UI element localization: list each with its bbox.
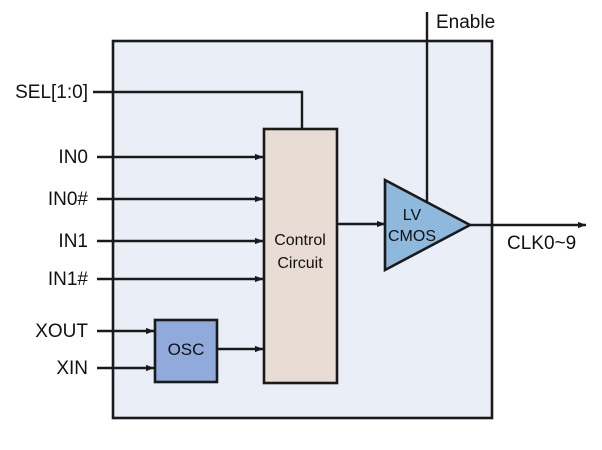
input-label-sel: SEL[1:0] [15,82,88,103]
control-circuit-label-line1: Control [274,232,326,249]
osc-block-label: OSC [168,340,205,359]
input-label-in1n: IN1# [48,269,89,290]
input-label-in0: IN0 [58,147,88,168]
output-label-clk: CLK0~9 [507,233,576,254]
input-label-xout: XOUT [35,321,88,342]
control-circuit-label-line2: Circuit [277,255,323,272]
input-label-in1: IN1 [58,231,88,252]
input-label-in0n: IN0# [48,189,89,210]
lv-cmos-buffer-label-line1: LV [403,207,422,224]
enable-label: Enable [436,12,495,33]
input-label-xin: XIN [56,358,88,379]
block-diagram-svg: Enable SEL[1:0] IN0 IN0# IN1 IN1# XOUT X… [0,0,602,450]
lv-cmos-buffer-label-line2: CMOS [388,228,436,245]
block-diagram-canvas: Enable SEL[1:0] IN0 IN0# IN1 IN1# XOUT X… [0,0,602,450]
